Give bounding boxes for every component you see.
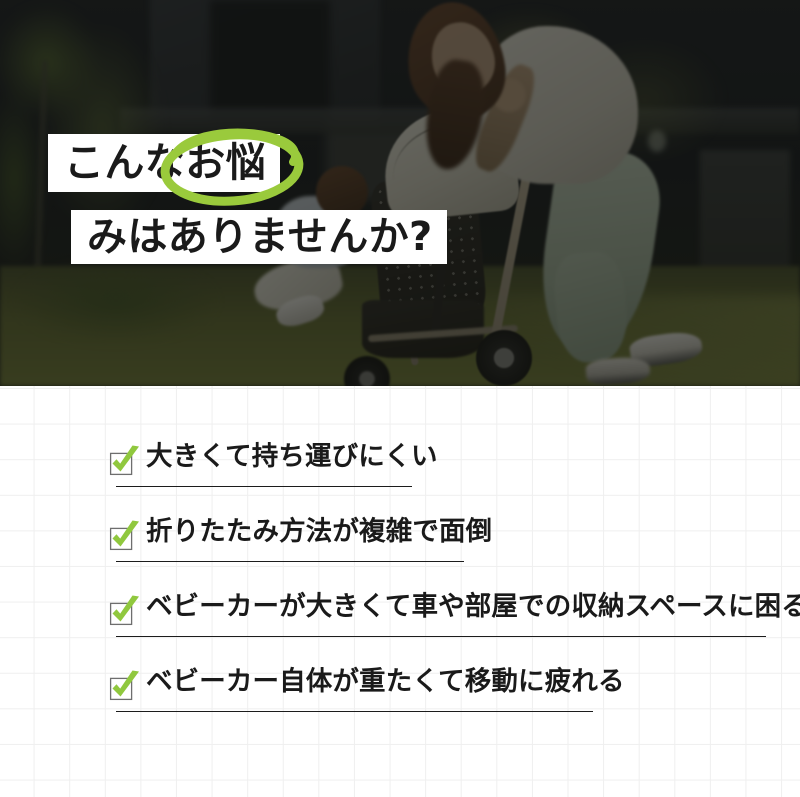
checklist-item-divider [116,561,464,562]
hero-headline: こんなお悩 みはありませんか? [0,0,800,386]
checklist-item-divider [116,711,593,712]
checklist-item-label: 大きくて持ち運びにくい [146,440,438,474]
checklist-item-divider [116,486,412,487]
headline-line-1: こんなお悩 [48,134,280,192]
headline-line-1-text: こんなお悩 [64,143,266,183]
green-checkmark-icon [108,594,142,628]
promo-page: こんなお悩 みはありませんか? 大きくて持ち運びにくい 折りたたみ方法が複雑で面… [0,0,800,797]
checklist-item-divider [116,636,766,637]
checklist-item-2: 折りたたみ方法が複雑で面倒 [0,511,800,586]
checklist-item-label: ベビーカー自体が重たくて移動に疲れる [146,665,625,699]
checklist-item-1: 大きくて持ち運びにくい [0,436,800,511]
checklist-item-label: 折りたたみ方法が複雑で面倒 [146,515,492,549]
headline-line-2-text: みはありませんか? [87,217,433,257]
hero-section: こんなお悩 みはありませんか? [0,0,800,386]
checklist-item-4: ベビーカー自体が重たくて移動に疲れる [0,661,800,736]
headline-line-2: みはありませんか? [71,210,447,264]
green-checkmark-icon [108,444,142,478]
checklist: 大きくて持ち運びにくい 折りたたみ方法が複雑で面倒 ベビーカーが大きくて車や部屋… [0,436,800,736]
checklist-item-3: ベビーカーが大きくて車や部屋での収納スペースに困る [0,586,800,661]
checklist-item-label: ベビーカーが大きくて車や部屋での収納スペースに困る [146,590,800,624]
checklist-section: 大きくて持ち運びにくい 折りたたみ方法が複雑で面倒 ベビーカーが大きくて車や部屋… [0,386,800,797]
green-checkmark-icon [108,669,142,703]
green-checkmark-icon [108,519,142,553]
